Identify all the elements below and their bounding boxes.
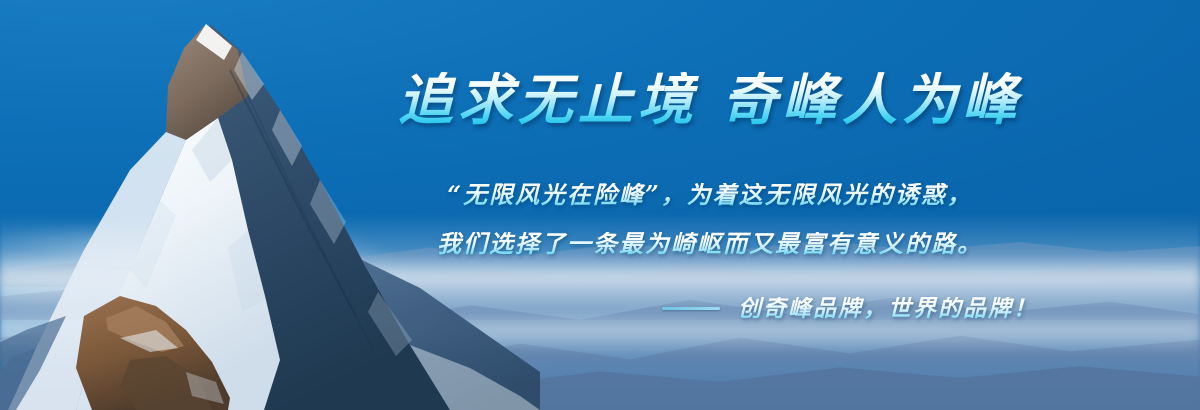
promotional-banner: 追求无止境 奇峰人为峰 “无限风光在险峰”，为着这无限风光的诱惑， 我们选择了一…: [0, 0, 1200, 410]
banner-attribution: 创奇峰品牌，世界的品牌！: [360, 297, 1060, 320]
attribution-text: 创奇峰品牌，世界的品牌！: [738, 297, 1038, 320]
banner-headline: 追求无止境 奇峰人为峰: [360, 72, 1060, 127]
banner-text-content: 追求无止境 奇峰人为峰 “无限风光在险峰”，为着这无限风光的诱惑， 我们选择了一…: [360, 0, 1060, 410]
banner-subtitle-line-2: 我们选择了一条最为崎岖而又最富有意义的路。: [360, 232, 1060, 256]
attribution-dash-icon: [662, 307, 720, 310]
banner-subtitle-line-1: “无限风光在险峰”，为着这无限风光的诱惑，: [360, 183, 1060, 207]
